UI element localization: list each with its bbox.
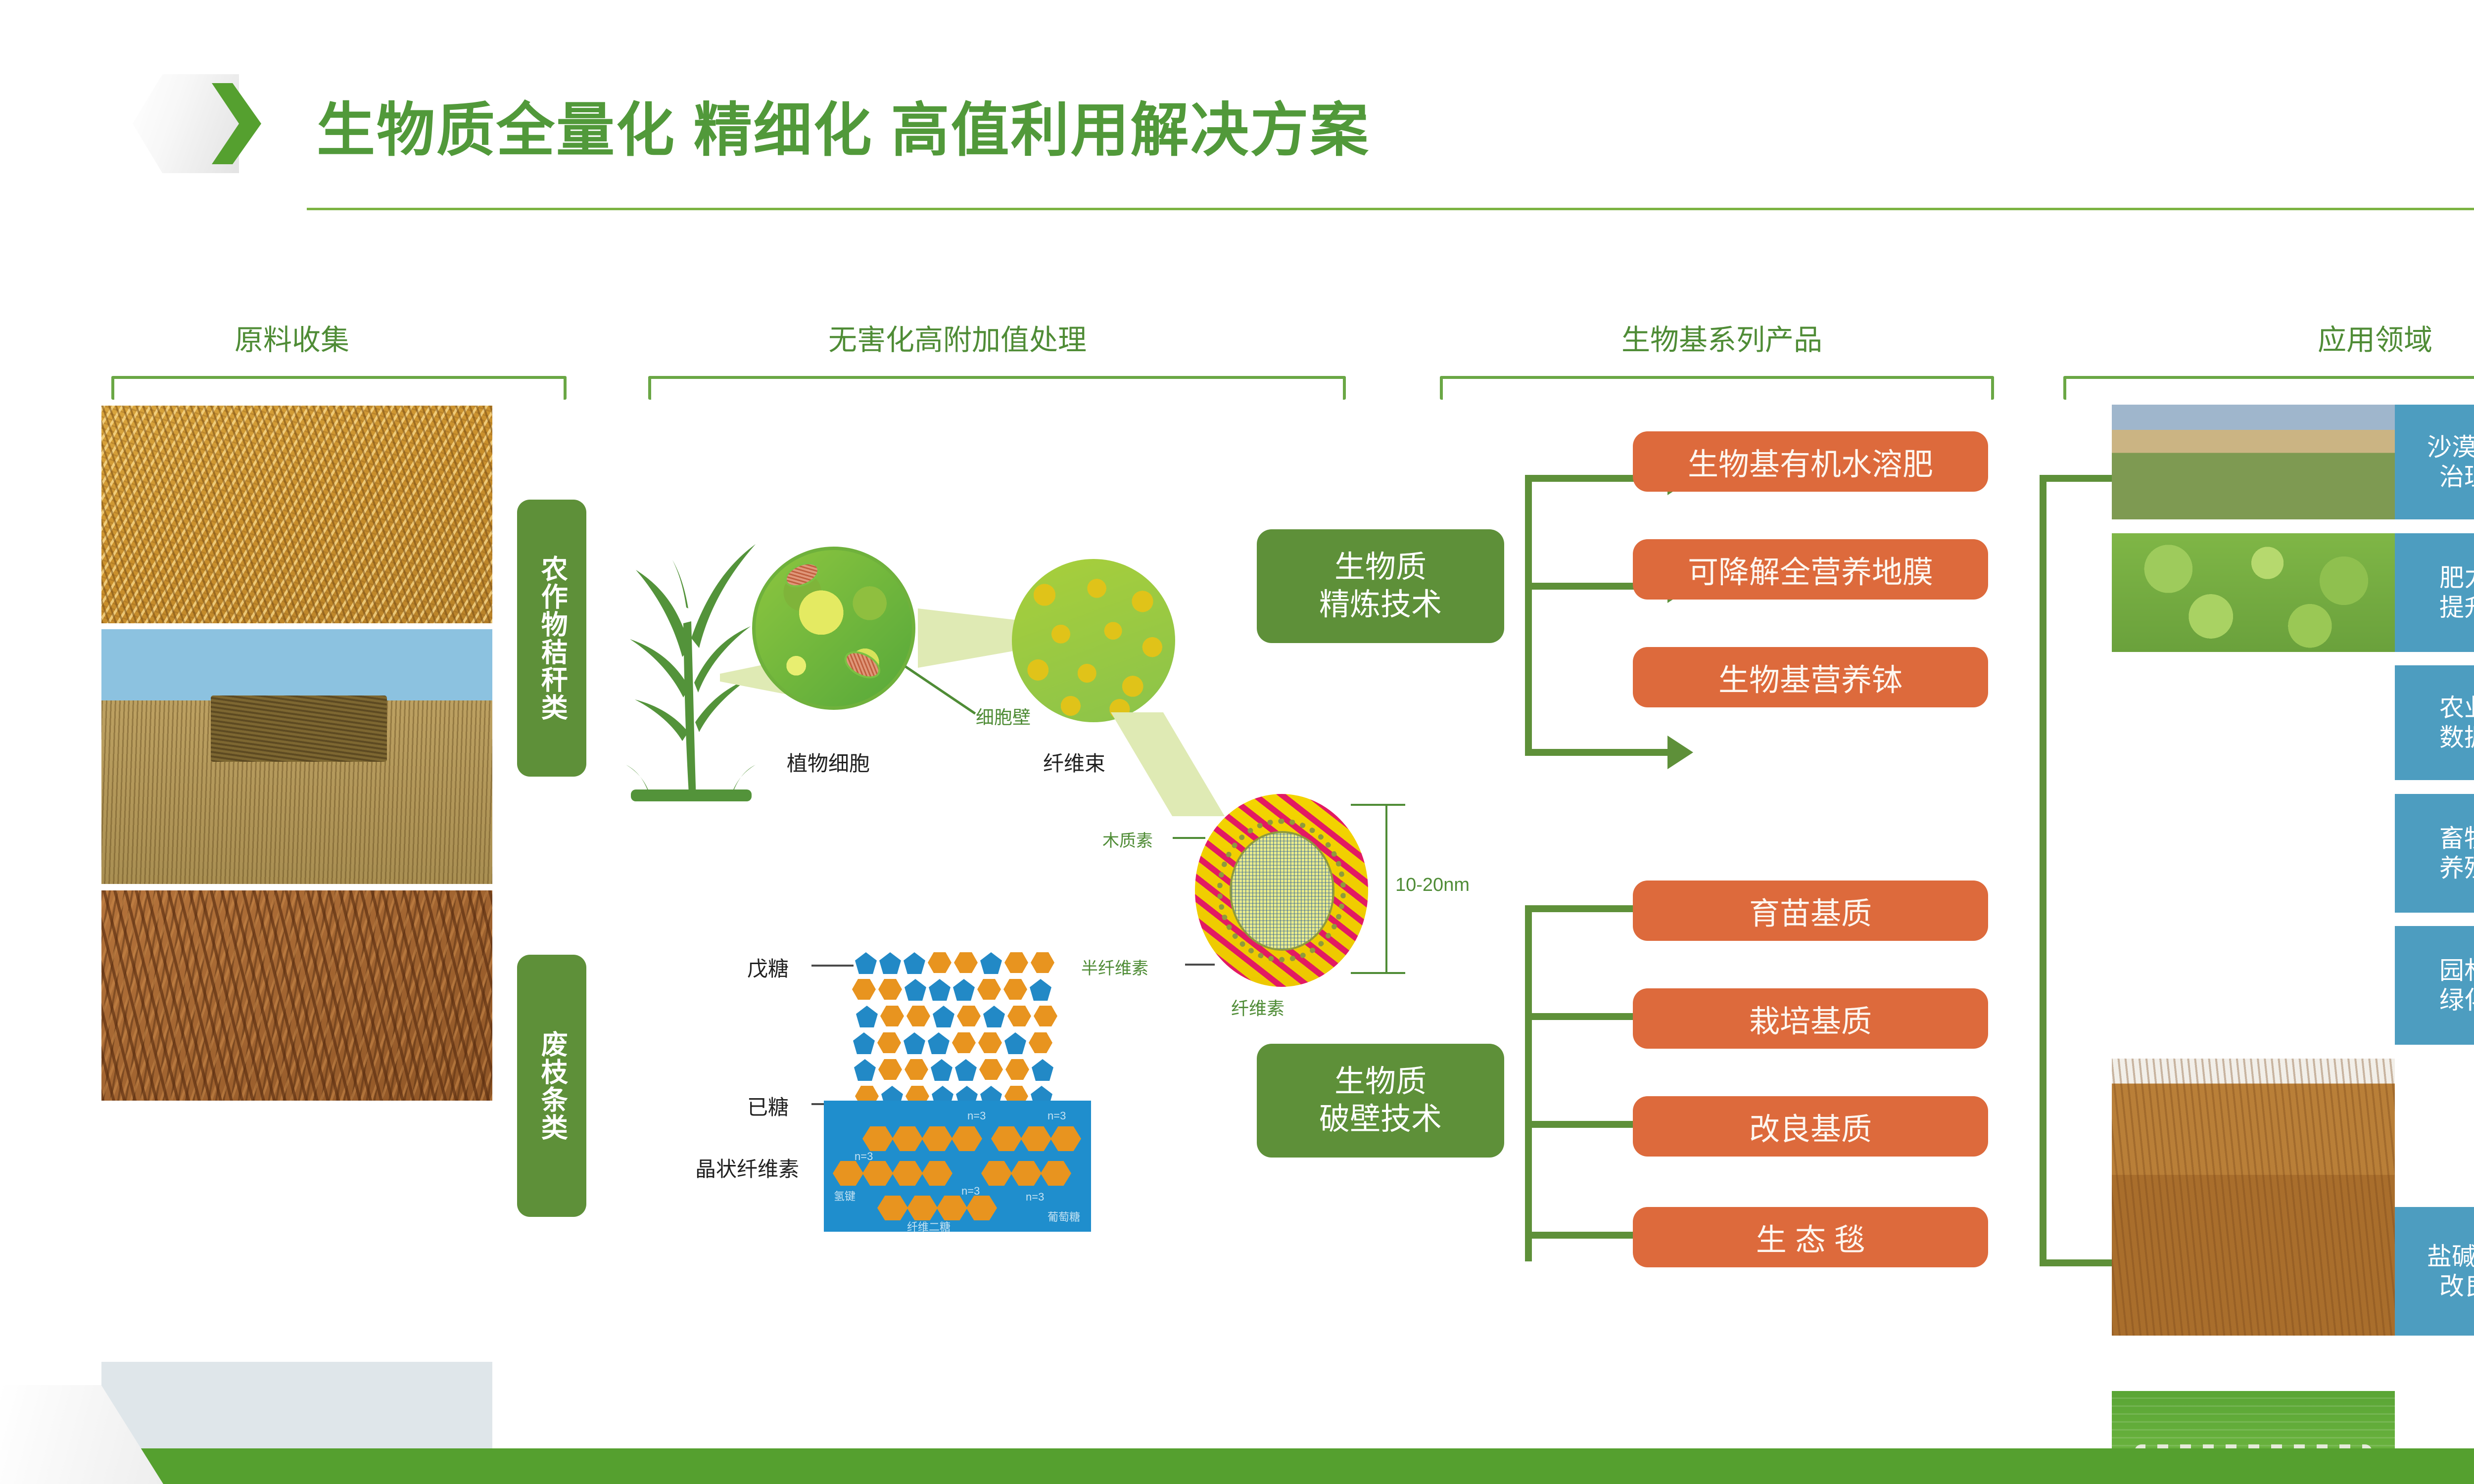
sugar-chain-diagram xyxy=(855,952,1097,1115)
hexose-glyph xyxy=(904,1059,928,1080)
tech-box-line1: 生物质 xyxy=(1334,1063,1427,1101)
hexose-glyph xyxy=(979,1059,1003,1080)
label-n3-d: n=3 xyxy=(961,1185,980,1198)
application-tag-line2: 绿化 xyxy=(2439,985,2474,1015)
mitochondrion-icon xyxy=(840,646,885,684)
pentose-glyph xyxy=(933,1006,954,1027)
glucose-hex-glyph xyxy=(1021,1126,1051,1151)
hexose-glyph xyxy=(878,1059,902,1080)
hexose-glyph xyxy=(878,979,902,1000)
page-title: 生物质全量化 精细化 高值利用解决方案 xyxy=(317,101,1370,160)
label-hydrogen-bond: 氢键 xyxy=(834,1188,856,1204)
product-biobased-nutrient-pot[interactable]: 生物基营养钵 xyxy=(1633,647,1988,707)
section-label-products: 生物基系列产品 xyxy=(1509,317,1935,358)
bracket-feedstock xyxy=(111,376,567,400)
pentose-glyph xyxy=(931,1059,952,1081)
label-pentose: 戊糖 xyxy=(747,952,789,982)
application-tag-line2: 养殖 xyxy=(2439,853,2474,883)
glucose-hex-glyph xyxy=(877,1196,908,1220)
scale-tick-bottom xyxy=(1351,972,1405,974)
label-cellulose: 纤维素 xyxy=(1231,994,1285,1020)
glucose-hex-glyph xyxy=(981,1161,1012,1186)
label-lignin: 木质素 xyxy=(1102,827,1153,851)
hexose-glyph xyxy=(977,979,1001,1000)
hexose-glyph xyxy=(928,952,952,973)
hexose-glyph xyxy=(1029,1032,1052,1053)
glucose-hex-glyph xyxy=(966,1196,997,1220)
pentose-glyph xyxy=(983,1006,1005,1027)
glucose-hex-glyph xyxy=(907,1196,938,1220)
title-underline xyxy=(307,208,2474,210)
application-tag-line1: 肥力 xyxy=(2439,563,2474,593)
hexose-glyph xyxy=(1034,1006,1057,1026)
connector-applications-bottom xyxy=(2040,1259,2119,1266)
glucose-hex-glyph xyxy=(1011,1161,1042,1186)
glucose-hex-glyph xyxy=(1041,1161,1071,1186)
label-glucose: 葡萄糖 xyxy=(1047,1208,1080,1224)
pentose-glyph xyxy=(980,952,1002,974)
scale-tick-top xyxy=(1351,804,1405,806)
tech-box-line2: 精炼技术 xyxy=(1319,586,1442,624)
application-tag-line2: 数据 xyxy=(2439,723,2474,752)
label-n3-c: n=3 xyxy=(855,1150,873,1163)
glucose-hex-glyph xyxy=(833,1161,863,1186)
application-tag-saline-land-improvement[interactable]: 盐碱地 改良 xyxy=(2395,1207,2474,1336)
label-n3-a: n=3 xyxy=(967,1110,986,1122)
glucose-hex-glyph xyxy=(892,1161,923,1186)
hexose-glyph xyxy=(1031,952,1054,973)
product-degradable-nutrient-mulch-film[interactable]: 可降解全营养地膜 xyxy=(1633,539,1988,600)
hexose-glyph xyxy=(957,1006,981,1026)
hexose-glyph xyxy=(1007,1006,1031,1026)
photo-cabbage-field xyxy=(2112,533,2395,652)
glucose-hex-glyph xyxy=(937,1196,967,1220)
application-tag-line2: 提升 xyxy=(2439,593,2474,622)
glucose-hex-glyph xyxy=(952,1126,982,1151)
connector-applications-trunk xyxy=(2040,475,2046,1266)
application-tag-line1: 畜牧 xyxy=(2439,824,2474,853)
cellulose-core xyxy=(1230,831,1334,951)
bracket-products xyxy=(1440,376,1994,400)
product-ecological-blanket[interactable]: 生 态 毯 xyxy=(1633,1207,1988,1267)
label-fiber-bundle: 纤维束 xyxy=(1043,747,1105,777)
mitochondrion-icon xyxy=(781,557,823,592)
application-tag-desertification-control[interactable]: 沙漠化 治理 xyxy=(2395,405,2474,519)
connector-applications-top xyxy=(2040,475,2119,482)
label-cell-wall: 细胞壁 xyxy=(976,702,1031,729)
photo-saline-soil xyxy=(2112,1059,2395,1336)
hexagon-badge-icon xyxy=(133,74,261,173)
pentose-glyph xyxy=(953,979,975,1001)
application-tag-line2: 改良 xyxy=(2439,1271,2474,1301)
application-tag-line1: 农业 xyxy=(2439,693,2474,723)
label-cellobiose: 纤维二糖 xyxy=(907,1218,951,1234)
product-improvement-substrate[interactable]: 改良基质 xyxy=(1633,1096,1988,1157)
application-tag-agriculture-data[interactable]: 农业 数据 xyxy=(2395,665,2474,780)
photo-dry-branches xyxy=(101,890,492,1101)
hexose-glyph xyxy=(952,1032,976,1053)
arrowhead-top-3 xyxy=(1667,736,1693,769)
application-tag-fertility-improvement[interactable]: 肥力 提升 xyxy=(2395,533,2474,652)
pentose-glyph xyxy=(904,952,925,974)
label-scale-10-20nm: 10-20nm xyxy=(1395,875,1470,896)
glucose-hex-glyph xyxy=(922,1161,952,1186)
feedstock-tag-waste-branches: 废枝条类 xyxy=(517,955,586,1217)
product-cultivation-substrate[interactable]: 栽培基质 xyxy=(1633,988,1988,1049)
product-seedling-substrate[interactable]: 育苗基质 xyxy=(1633,881,1988,941)
connector-trunk-bottom xyxy=(1525,905,1532,1261)
zoom-cone-cell-to-fiber xyxy=(918,608,1019,668)
pentose-glyph xyxy=(854,1059,876,1081)
zoom-cone-fiber-to-cross-section xyxy=(1111,712,1225,816)
plant-grass-icon xyxy=(621,524,760,801)
label-crystalline-cellulose: 晶状纤维素 xyxy=(695,1153,799,1183)
pentose-glyph xyxy=(955,1059,977,1081)
footer-green-bar xyxy=(0,1448,2474,1484)
leader-line-cellwall xyxy=(905,665,976,714)
tech-box-line1: 生物质 xyxy=(1334,549,1427,586)
glucose-hex-glyph xyxy=(892,1126,923,1151)
pentose-glyph xyxy=(1032,1059,1053,1081)
infographic-canvas: 生物质全量化 精细化 高值利用解决方案 原料收集 无害化高附加值处理 生物基系列… xyxy=(0,0,2474,1484)
glucose-hex-glyph xyxy=(991,1126,1022,1151)
fiber-bundle-illustration xyxy=(1012,559,1175,722)
section-label-feedstock: 原料收集 xyxy=(188,317,396,358)
photo-desert-restoration xyxy=(2112,405,2395,519)
photo-straw-bale-field xyxy=(101,629,492,884)
hexose-glyph xyxy=(978,1032,1002,1053)
pentose-glyph xyxy=(855,952,877,974)
hexose-glyph xyxy=(852,979,876,1000)
tech-box-biomass-refining[interactable]: 生物质 精炼技术 xyxy=(1257,529,1504,643)
crystalline-cellulose-diagram: n=3 n=3 n=3 n=3 n=3 氢键 葡萄糖 纤维二糖 xyxy=(824,1101,1091,1232)
application-tag-landscape-greening[interactable]: 园林 绿化 xyxy=(2395,926,2474,1045)
pentose-glyph xyxy=(1030,979,1051,1001)
feedstock-tag-crop-straw: 农作物秸秆类 xyxy=(517,500,586,777)
application-tag-line2: 治理 xyxy=(2439,462,2474,492)
hexose-glyph xyxy=(880,1006,904,1026)
plant-cell-illustration xyxy=(752,547,915,710)
bracket-applications xyxy=(2063,376,2474,400)
tech-box-biomass-wallbreaking[interactable]: 生物质 破壁技术 xyxy=(1257,1044,1504,1158)
label-n3-b: n=3 xyxy=(1047,1110,1066,1122)
application-tag-line1: 园林 xyxy=(2439,956,2474,985)
tech-box-line2: 破壁技术 xyxy=(1319,1101,1442,1138)
product-bio-water-soluble-fertilizer[interactable]: 生物基有机水溶肥 xyxy=(1633,431,1988,492)
glucose-hex-glyph xyxy=(922,1126,952,1151)
application-tag-line1: 沙漠化 xyxy=(2427,432,2474,462)
connector-trunk-top xyxy=(1525,475,1532,756)
leader-line-hemicellulose xyxy=(1185,964,1215,966)
pentose-glyph xyxy=(904,1032,925,1054)
leader-line-pentose xyxy=(811,965,854,967)
hexose-glyph xyxy=(954,952,978,973)
pentose-glyph xyxy=(1004,1032,1026,1054)
scale-bar xyxy=(1385,804,1387,974)
photo-corn-straw-field xyxy=(101,406,492,623)
pentose-glyph xyxy=(853,1032,875,1054)
glucose-hex-glyph xyxy=(1050,1126,1081,1151)
connector-branch-top-3 xyxy=(1525,749,1673,756)
pentose-glyph xyxy=(904,979,926,1001)
application-tag-line1: 盐碱地 xyxy=(2427,1242,2474,1271)
leader-line-lignin xyxy=(1173,837,1205,839)
section-label-processing: 无害化高附加值处理 xyxy=(747,317,1168,358)
label-n3-e: n=3 xyxy=(1026,1191,1044,1204)
pentose-glyph xyxy=(929,979,951,1001)
section-label-applications: 应用领域 xyxy=(2232,317,2474,358)
hexose-glyph xyxy=(1003,979,1027,1000)
pentose-glyph xyxy=(879,952,901,974)
glucose-hex-glyph xyxy=(862,1126,893,1151)
hexose-glyph xyxy=(1004,952,1028,973)
label-plant-cell: 植物细胞 xyxy=(787,747,870,777)
label-hexose: 已糖 xyxy=(747,1091,789,1121)
hexose-glyph xyxy=(1005,1059,1029,1080)
application-tag-livestock-breeding[interactable]: 畜牧 养殖 xyxy=(2395,794,2474,913)
pentose-glyph xyxy=(856,1006,878,1027)
bracket-processing xyxy=(648,376,1346,400)
hexose-glyph xyxy=(906,1006,930,1026)
hexose-glyph xyxy=(877,1032,901,1053)
glucose-hex-glyph xyxy=(862,1161,893,1186)
pentose-glyph xyxy=(928,1032,950,1054)
